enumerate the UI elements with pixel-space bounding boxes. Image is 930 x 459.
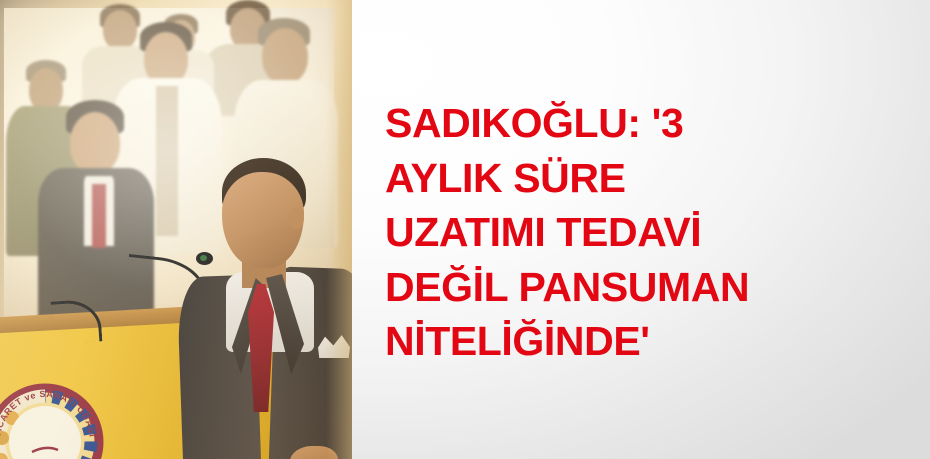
- chamber-of-commerce-emblem-icon: TİCARET ve SANAYİ ODASI: [0, 372, 104, 459]
- headline-panel: SADIKOĞLU: '3 AYLIK SÜRE UZATIMI TEDAVİ …: [352, 0, 930, 459]
- news-thumbnail-card: TİCARET ve SANAYİ ODASI SADIKOĞLU: '3 AY…: [0, 0, 930, 459]
- speaker-ear: [288, 208, 304, 229]
- photo-right-edge-shade: [326, 0, 352, 459]
- news-photo: TİCARET ve SANAYİ ODASI: [0, 0, 352, 459]
- speaker-figure: [170, 150, 352, 459]
- page-title: SADIKOĞLU: '3 AYLIK SÜRE UZATIMI TEDAVİ …: [385, 96, 915, 369]
